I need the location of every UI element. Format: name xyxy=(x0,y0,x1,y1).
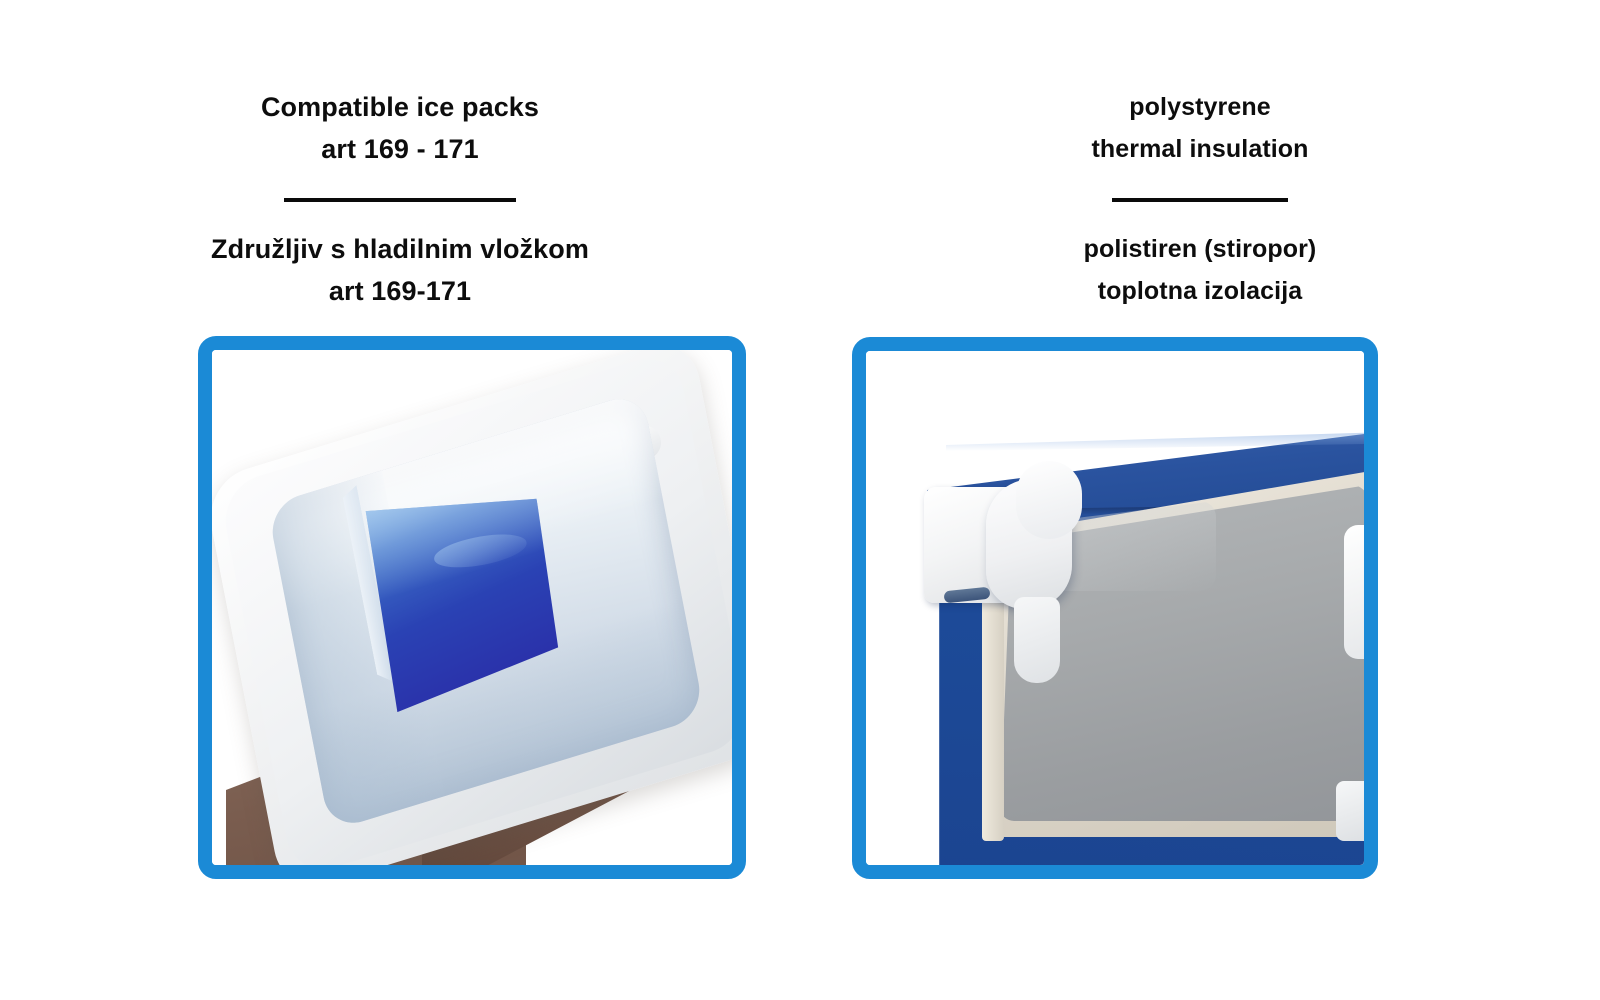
cooler-foot-right xyxy=(1336,781,1364,841)
caption-divider-right xyxy=(1112,198,1288,202)
caption-english-insulation: polystyrene thermal insulation xyxy=(800,86,1600,170)
caption-sl-line2: art 169-171 xyxy=(0,270,800,312)
caption-divider-left xyxy=(284,198,516,202)
photo-frame-ice-packs xyxy=(198,336,746,879)
caption-en-line2: thermal insulation xyxy=(800,128,1600,170)
caption-en-line1: Compatible ice packs xyxy=(0,86,800,128)
panel-ice-packs: Compatible ice packs art 169 - 171 Združ… xyxy=(0,0,800,1000)
caption-block-ice-packs: Compatible ice packs art 169 - 171 Združ… xyxy=(0,86,800,312)
cooler-latch-lobe-upper xyxy=(1016,461,1082,539)
caption-english-ice-packs: Compatible ice packs art 169 - 171 xyxy=(0,86,800,170)
caption-slovene-insulation: polistiren (stiropor) toplotna izolacija xyxy=(800,228,1600,312)
caption-slovene-ice-packs: Združljiv s hladilnim vložkom art 169-17… xyxy=(0,228,800,312)
caption-divider-wrap-left xyxy=(0,198,800,202)
photo-frame-insulation xyxy=(852,337,1378,879)
caption-sl-line1: polistiren (stiropor) xyxy=(800,228,1600,270)
cooler-latch-right xyxy=(1344,525,1364,659)
cooler-open-illustration xyxy=(212,350,732,865)
cooler-cutaway-illustration xyxy=(866,351,1364,865)
cooler-latch-stem xyxy=(1014,597,1060,683)
photo-ice-packs xyxy=(212,350,732,865)
photo-insulation xyxy=(866,351,1364,865)
caption-block-insulation: polystyrene thermal insulation polistire… xyxy=(800,86,1600,312)
caption-divider-wrap-right xyxy=(800,198,1600,202)
panel-insulation: polystyrene thermal insulation polistire… xyxy=(800,0,1600,1000)
caption-en-line1: polystyrene xyxy=(800,86,1600,128)
caption-sl-line2: toplotna izolacija xyxy=(800,270,1600,312)
caption-sl-line1: Združljiv s hladilnim vložkom xyxy=(0,228,800,270)
caption-en-line2: art 169 - 171 xyxy=(0,128,800,170)
